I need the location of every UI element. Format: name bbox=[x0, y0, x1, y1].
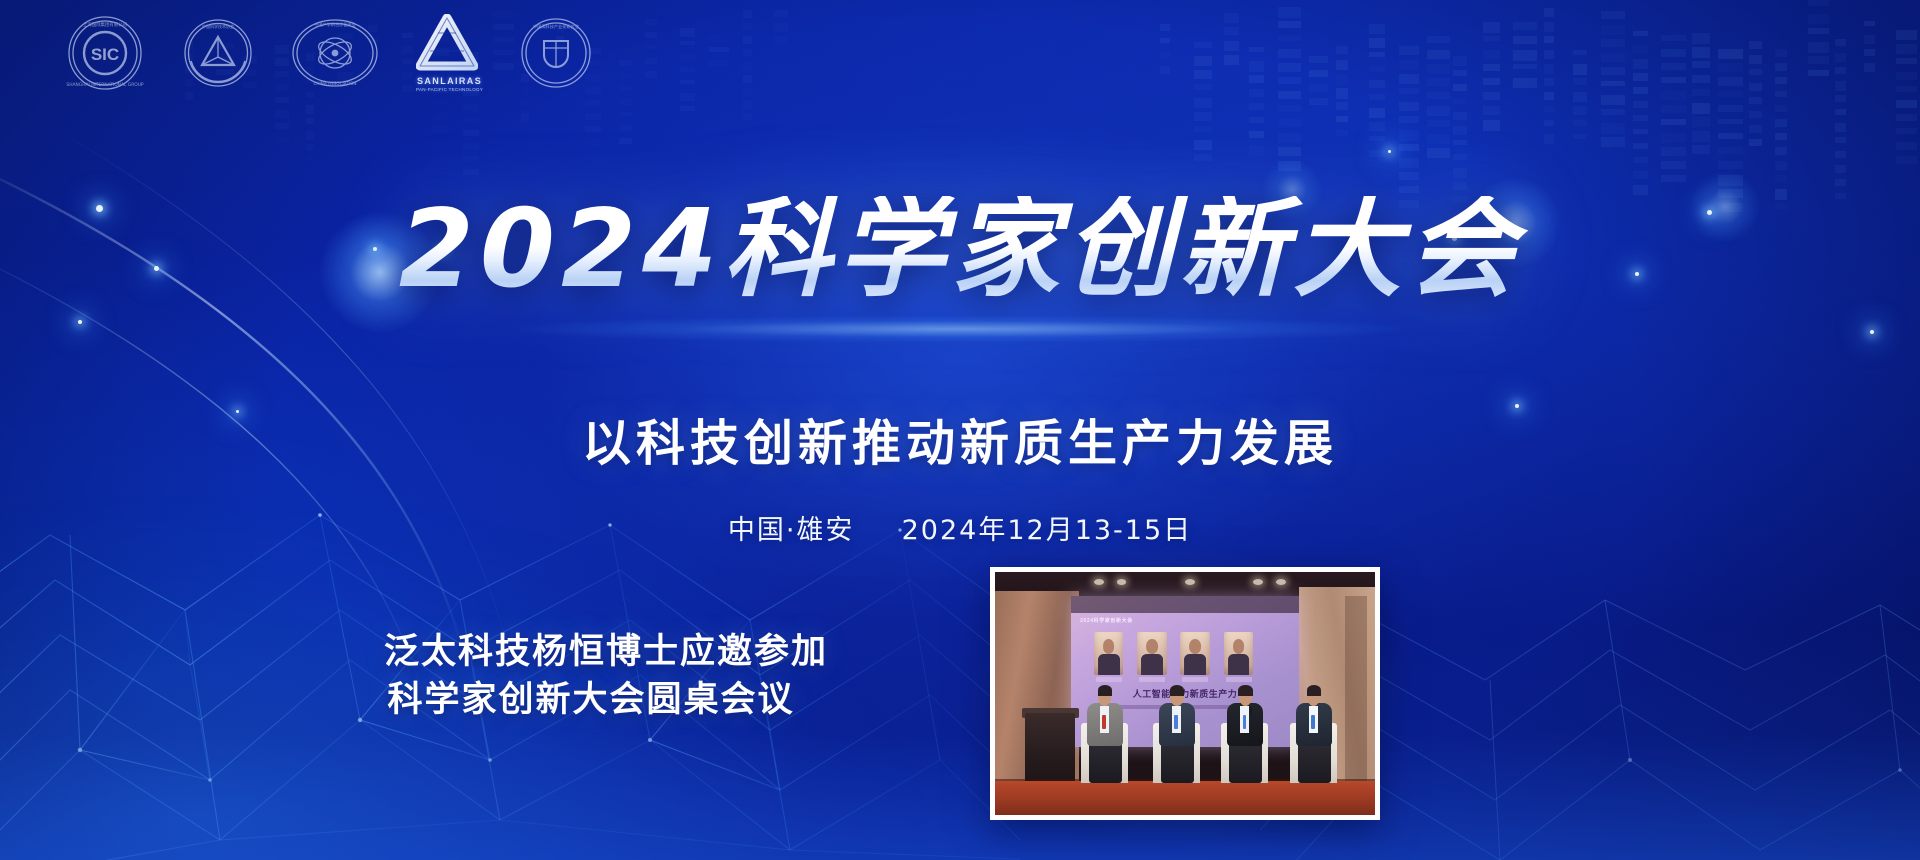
grid-cell-decoration bbox=[1160, 52, 1170, 58]
grid-cell-decoration bbox=[1718, 161, 1743, 169]
grid-cell-decoration bbox=[306, 105, 314, 114]
grid-cell-decoration bbox=[1808, 28, 1829, 34]
grid-cell-decoration bbox=[1544, 50, 1554, 58]
grid-cell-decoration bbox=[1573, 134, 1587, 140]
grid-cell-decoration bbox=[1835, 123, 1846, 132]
santaires-wordmark: SANLAIRAS PAN-PACIFIC TECHNOLOGY bbox=[416, 76, 483, 92]
grid-cell-decoration bbox=[1336, 46, 1348, 54]
grid-cell-decoration bbox=[1661, 105, 1686, 113]
grid-cell-decoration bbox=[1513, 78, 1537, 88]
grid-cell-decoration bbox=[1369, 80, 1385, 88]
grid-cell-decoration bbox=[1309, 84, 1328, 92]
grid-cell-decoration bbox=[1427, 106, 1450, 115]
grid-cell-decoration bbox=[743, 36, 752, 44]
grid-cell-decoration bbox=[433, 113, 449, 120]
grid-cell-decoration bbox=[709, 60, 729, 66]
grid-cell-decoration bbox=[1718, 147, 1743, 154]
grid-cell-decoration bbox=[1835, 53, 1846, 62]
grid-cell-decoration bbox=[1775, 175, 1787, 181]
panelist bbox=[1151, 686, 1202, 783]
grid-cell-decoration bbox=[1718, 105, 1743, 111]
grid-cell-decoration bbox=[1835, 165, 1846, 173]
grid-cell-decoration bbox=[619, 60, 632, 66]
sic-seal-logo: SIC 上海国际集团有限公司 SHANGHAI INTERNATIONAL GR… bbox=[66, 14, 144, 92]
grid-cell-decoration bbox=[709, 47, 729, 52]
grid-cell-decoration bbox=[1336, 102, 1348, 110]
speaker-portrait bbox=[1180, 632, 1210, 674]
grid-cell-decoration bbox=[1633, 59, 1648, 70]
grid-cell-decoration bbox=[1775, 147, 1787, 154]
portrait-caption bbox=[1226, 677, 1252, 682]
grid-cell-decoration bbox=[680, 80, 695, 84]
grid-cell-decoration bbox=[1399, 102, 1419, 111]
grid-cell-decoration bbox=[1775, 105, 1787, 112]
grid-cell-decoration bbox=[1453, 168, 1467, 178]
grid-cell-decoration bbox=[1808, 0, 1829, 6]
grid-cell-decoration bbox=[185, 92, 193, 101]
grid-cell-decoration bbox=[1573, 120, 1587, 126]
panelist-legs bbox=[1089, 742, 1122, 784]
grid-cell-decoration bbox=[774, 36, 788, 43]
grid-cell-decoration bbox=[680, 93, 695, 102]
grid-cell-decoration bbox=[1864, 35, 1875, 43]
grid-cell-decoration bbox=[1427, 78, 1450, 85]
grid-cell-decoration bbox=[1633, 115, 1648, 121]
grid-cell-decoration bbox=[1544, 78, 1554, 86]
grid-cell-decoration bbox=[1661, 35, 1686, 41]
grid-cell-decoration bbox=[743, 88, 752, 97]
grid-cell-decoration bbox=[1692, 33, 1710, 44]
santaires-triangle-logo: SANLAIRAS PAN-PACIFIC TECHNOLOGY bbox=[416, 14, 483, 92]
grid-cell-decoration bbox=[1544, 22, 1554, 32]
grid-cell-decoration bbox=[1369, 52, 1385, 58]
grid-cell-decoration bbox=[709, 34, 729, 42]
portrait-head bbox=[1103, 639, 1115, 653]
grid-cell-decoration bbox=[1194, 98, 1212, 108]
grid-cell-decoration bbox=[1249, 75, 1264, 83]
grid-cell-decoration bbox=[1775, 161, 1787, 169]
grid-cell-decoration bbox=[1573, 78, 1587, 85]
grid-cell-decoration bbox=[743, 101, 752, 109]
grid-cell-decoration bbox=[1692, 103, 1710, 113]
panelist-badge bbox=[1174, 715, 1178, 729]
portrait-head bbox=[1189, 639, 1201, 653]
grid-cell-decoration bbox=[1278, 77, 1301, 84]
grid-cell-decoration bbox=[1661, 91, 1686, 99]
grid-cell-decoration bbox=[1278, 63, 1301, 72]
photo-wall-right-panel bbox=[1345, 596, 1368, 786]
grid-cell-decoration bbox=[1601, 81, 1625, 86]
grid-cell-decoration bbox=[1749, 41, 1762, 49]
grid-cell-decoration bbox=[1633, 101, 1648, 108]
grid-cell-decoration bbox=[1427, 148, 1450, 157]
glow-particle bbox=[1870, 330, 1874, 334]
grid-cell-decoration bbox=[1369, 24, 1385, 35]
grid-cell-decoration bbox=[1633, 73, 1648, 81]
grid-cell-decoration bbox=[1278, 91, 1301, 99]
grid-cell-decoration bbox=[1194, 84, 1212, 90]
grid-cell-decoration bbox=[1775, 77, 1787, 84]
grid-cell-decoration bbox=[1896, 30, 1917, 40]
caption-line-2: 科学家创新大会圆桌会议 bbox=[384, 676, 798, 724]
grid-cell-decoration bbox=[1336, 88, 1348, 99]
grid-cell-decoration bbox=[1336, 116, 1348, 122]
grid-cell-decoration bbox=[521, 100, 529, 105]
grid-cell-decoration bbox=[1399, 172, 1419, 179]
grid-cell-decoration bbox=[1278, 119, 1301, 127]
grid-cell-decoration bbox=[1601, 123, 1625, 134]
grid-cell-decoration bbox=[1453, 112, 1467, 120]
panelist-legs bbox=[1298, 742, 1331, 784]
grid-cell-decoration bbox=[1835, 137, 1846, 143]
grid-cell-decoration bbox=[1336, 74, 1348, 85]
grid-cell-decoration bbox=[619, 73, 632, 79]
grid-cell-decoration bbox=[1224, 41, 1239, 51]
grid-cell-decoration bbox=[1718, 49, 1743, 59]
grid-cell-decoration bbox=[1160, 38, 1170, 43]
grid-cell-decoration bbox=[680, 106, 695, 111]
grid-cell-decoration bbox=[1249, 47, 1264, 52]
grid-cell-decoration bbox=[1483, 120, 1500, 131]
grid-cell-decoration bbox=[1661, 119, 1686, 124]
grid-cell-decoration bbox=[1453, 70, 1467, 76]
grid-cell-decoration bbox=[1864, 63, 1875, 72]
grid-cell-decoration bbox=[1278, 7, 1301, 18]
grid-cell-decoration bbox=[1160, 66, 1170, 74]
grid-cell-decoration bbox=[1194, 154, 1212, 161]
speaker-portrait bbox=[1094, 632, 1124, 674]
grid-cell-decoration bbox=[1835, 109, 1846, 116]
grid-cell-decoration bbox=[619, 86, 632, 91]
grid-cell-decoration bbox=[1278, 49, 1301, 57]
svg-text:CHINA ASSOCIATION: CHINA ASSOCIATION bbox=[313, 81, 356, 86]
grid-cell-decoration bbox=[1749, 69, 1762, 75]
grid-cell-decoration bbox=[1544, 106, 1554, 111]
grid-cell-decoration bbox=[1483, 92, 1500, 100]
panelist-badge bbox=[1311, 715, 1315, 729]
grid-cell-decoration bbox=[1661, 63, 1686, 69]
panelist bbox=[1079, 686, 1130, 783]
svg-text:SIC: SIC bbox=[91, 45, 119, 64]
svg-text:中国科学技术协会: 中国科学技术协会 bbox=[202, 23, 234, 29]
grid-cell-decoration bbox=[1633, 157, 1648, 163]
poster-subtitle: 以科技创新推动新质生产力发展 bbox=[0, 404, 1920, 475]
glow-particle bbox=[1388, 150, 1391, 153]
grid-cell-decoration bbox=[1601, 109, 1625, 116]
panelist bbox=[1219, 686, 1270, 783]
grid-cell-decoration bbox=[585, 100, 601, 106]
grid-cell-decoration bbox=[1601, 25, 1625, 35]
event-caption: 泛太科技杨恒博士应邀参加 科学家创新大会圆桌会议 bbox=[384, 628, 798, 725]
grid-cell-decoration bbox=[743, 23, 752, 28]
grid-cell-decoration bbox=[1775, 63, 1787, 70]
grid-cell-decoration bbox=[1808, 14, 1829, 23]
grid-cell-decoration bbox=[680, 41, 695, 46]
poster-canvas: SIC 上海国际集团有限公司 SHANGHAI INTERNATIONAL GR… bbox=[0, 0, 1920, 860]
svg-text:SHANGHAI INTERNATIONAL GROUP: SHANGHAI INTERNATIONAL GROUP bbox=[66, 82, 143, 88]
grid-cell-decoration bbox=[1369, 66, 1385, 73]
grid-cell-decoration bbox=[1633, 31, 1648, 36]
grid-cell-decoration bbox=[1399, 130, 1419, 141]
grid-cell-decoration bbox=[1896, 142, 1917, 149]
grid-cell-decoration bbox=[1224, 13, 1239, 23]
grid-cell-decoration bbox=[463, 104, 479, 111]
grid-cell-decoration bbox=[1427, 50, 1450, 59]
grid-cell-decoration bbox=[1692, 75, 1710, 83]
meeting-location: 中国·雄安 bbox=[728, 515, 855, 546]
atom-seal-logo: 中国产学研合作促进会 CHINA ASSOCIATION bbox=[292, 16, 378, 90]
grid-cell-decoration bbox=[1633, 129, 1648, 134]
portrait-body bbox=[1141, 654, 1163, 675]
grid-cell-decoration bbox=[1513, 36, 1537, 45]
grid-cell-decoration bbox=[1483, 106, 1500, 114]
grid-cell-decoration bbox=[1336, 60, 1348, 69]
svg-text:中国高科技产业化研究会: 中国高科技产业化研究会 bbox=[533, 23, 580, 30]
grid-cell-decoration bbox=[1573, 92, 1587, 102]
grid-cell-decoration bbox=[1399, 88, 1419, 94]
panelist-badge bbox=[1102, 715, 1106, 729]
ceiling-light-icon bbox=[1094, 579, 1104, 585]
grid-cell-decoration bbox=[1309, 70, 1328, 77]
grid-cell-decoration bbox=[1601, 137, 1625, 147]
stage-floor bbox=[995, 781, 1375, 815]
svg-text:上海国际集团有限公司: 上海国际集团有限公司 bbox=[83, 21, 127, 28]
grid-cell-decoration bbox=[1661, 161, 1686, 169]
grid-cell-decoration bbox=[1453, 98, 1467, 104]
microphone-icon bbox=[1250, 707, 1252, 716]
grid-cell-decoration bbox=[774, 23, 788, 32]
grid-cell-decoration bbox=[645, 32, 657, 37]
panelist-badge bbox=[1243, 715, 1247, 729]
grid-cell-decoration bbox=[1194, 42, 1212, 49]
grid-cell-decoration bbox=[1369, 136, 1385, 142]
grid-cell-decoration bbox=[1249, 145, 1264, 156]
grid-cell-decoration bbox=[1427, 92, 1450, 98]
grid-cell-decoration bbox=[1224, 55, 1239, 65]
screen-header-bar bbox=[1071, 596, 1299, 613]
panelist bbox=[1288, 686, 1339, 783]
grid-cell-decoration bbox=[1427, 134, 1450, 144]
grid-cell-decoration bbox=[1718, 91, 1743, 97]
grid-cell-decoration bbox=[1544, 134, 1554, 144]
ceiling-light-icon bbox=[1185, 579, 1195, 585]
grid-cell-decoration bbox=[1427, 36, 1450, 43]
panelist-hair bbox=[1307, 685, 1321, 696]
grid-cell-decoration bbox=[1544, 64, 1554, 74]
title-underglow bbox=[520, 316, 1400, 342]
grid-cell-decoration bbox=[1718, 133, 1743, 139]
grid-cell-decoration bbox=[1601, 11, 1625, 19]
grid-cell-decoration bbox=[1896, 114, 1917, 121]
grid-cell-decoration bbox=[1808, 56, 1829, 64]
grid-cell-decoration bbox=[1633, 143, 1648, 149]
grid-cell-decoration bbox=[1513, 22, 1537, 30]
grid-cell-decoration bbox=[1661, 133, 1686, 143]
portrait-caption bbox=[1096, 677, 1122, 682]
grid-cell-decoration bbox=[1808, 42, 1829, 52]
grid-cell-decoration bbox=[1835, 151, 1846, 159]
grid-cell-decoration bbox=[1194, 70, 1212, 79]
grid-cell-decoration bbox=[1369, 150, 1385, 158]
grid-cell-decoration bbox=[1399, 60, 1419, 69]
portrait-body bbox=[1184, 654, 1206, 675]
grid-cell-decoration bbox=[680, 28, 695, 37]
triangle-seal-logo: 中国科学技术协会 bbox=[182, 17, 254, 89]
panelist-hair bbox=[1238, 685, 1252, 696]
grid-cell-decoration bbox=[743, 75, 752, 83]
grid-cell-decoration bbox=[1544, 120, 1554, 126]
grid-cell-decoration bbox=[1749, 139, 1762, 146]
grid-cell-decoration bbox=[1224, 27, 1239, 34]
grid-cell-decoration bbox=[1718, 63, 1743, 71]
grid-cell-decoration bbox=[1453, 56, 1467, 66]
speaker-portrait bbox=[1224, 632, 1254, 674]
grid-cell-decoration bbox=[1601, 95, 1625, 105]
grid-cell-decoration bbox=[1483, 36, 1500, 41]
portrait-body bbox=[1098, 654, 1120, 675]
grid-cell-decoration bbox=[743, 49, 752, 55]
grid-cell-decoration bbox=[1573, 106, 1587, 115]
grid-cell-decoration bbox=[1692, 47, 1710, 58]
grid-cell-decoration bbox=[1453, 84, 1467, 91]
shield-seal-logo: 中国高科技产业化研究会 bbox=[519, 16, 593, 90]
grid-cell-decoration bbox=[1864, 21, 1875, 26]
grid-cell-decoration bbox=[1633, 185, 1648, 195]
grid-cell-decoration bbox=[1749, 97, 1762, 104]
grid-cell-decoration bbox=[1194, 140, 1212, 151]
grid-cell-decoration bbox=[680, 67, 695, 72]
grid-cell-decoration bbox=[1749, 125, 1762, 134]
grid-cell-decoration bbox=[1483, 22, 1500, 33]
screen-header-title: 2024科学家创新大会 bbox=[1080, 617, 1133, 624]
photo-content: 2024科学家创新大会 bbox=[995, 572, 1375, 815]
grid-cell-decoration bbox=[1835, 179, 1846, 186]
grid-cell-decoration bbox=[645, 71, 657, 78]
grid-cell-decoration bbox=[774, 10, 788, 16]
grid-cell-decoration bbox=[1692, 117, 1710, 127]
grid-cell-decoration bbox=[1453, 154, 1467, 160]
grid-cell-decoration bbox=[1278, 105, 1301, 112]
grid-cell-decoration bbox=[1249, 117, 1264, 123]
grid-cell-decoration bbox=[1661, 175, 1686, 182]
grid-cell-decoration bbox=[1896, 72, 1917, 80]
grid-cell-decoration bbox=[1896, 58, 1917, 64]
grid-cell-decoration bbox=[1483, 50, 1500, 59]
portrait-head bbox=[1146, 639, 1158, 653]
grid-cell-decoration bbox=[1749, 55, 1762, 64]
grid-cell-decoration bbox=[1692, 89, 1710, 96]
grid-cell-decoration bbox=[1309, 56, 1328, 63]
grid-cell-decoration bbox=[645, 58, 657, 63]
grid-cell-decoration bbox=[1835, 81, 1846, 91]
portrait-caption bbox=[1139, 677, 1165, 682]
grid-cell-decoration bbox=[1369, 38, 1385, 48]
grid-cell-decoration bbox=[1399, 144, 1419, 151]
grid-cell-decoration bbox=[1399, 158, 1419, 168]
grid-cell-decoration bbox=[1544, 8, 1554, 17]
grid-cell-decoration bbox=[1749, 111, 1762, 118]
grid-cell-decoration bbox=[680, 54, 695, 62]
panelist-legs bbox=[1161, 742, 1194, 784]
grid-cell-decoration bbox=[1692, 61, 1710, 67]
grid-cell-decoration bbox=[1249, 103, 1264, 110]
grid-cell-decoration bbox=[1692, 131, 1710, 141]
grid-cell-decoration bbox=[619, 99, 632, 106]
grid-cell-decoration bbox=[1453, 140, 1467, 146]
horizon-glow bbox=[0, 630, 1920, 860]
grid-cell-decoration bbox=[1249, 89, 1264, 97]
grid-cell-decoration bbox=[1278, 35, 1301, 40]
grid-cell-decoration bbox=[1194, 56, 1212, 66]
grid-cell-decoration bbox=[1483, 64, 1500, 71]
portrait-body bbox=[1228, 654, 1250, 675]
grid-cell-decoration bbox=[1633, 45, 1648, 53]
grid-cell-decoration bbox=[1427, 120, 1450, 126]
grid-cell-decoration bbox=[1427, 64, 1450, 74]
grid-cell-decoration bbox=[275, 97, 289, 103]
grid-cell-decoration bbox=[1399, 116, 1419, 123]
grid-cell-decoration bbox=[1896, 156, 1917, 164]
grid-cell-decoration bbox=[1835, 67, 1846, 74]
panelist-hair bbox=[1098, 685, 1112, 696]
grid-cell-decoration bbox=[1278, 133, 1301, 143]
grid-cell-decoration bbox=[1896, 86, 1917, 92]
grid-cell-decoration bbox=[1633, 87, 1648, 94]
grid-cell-decoration bbox=[1194, 126, 1212, 133]
meeting-info-line: 中国·雄安 2024年12月13-15日 bbox=[0, 508, 1920, 547]
grid-cell-decoration bbox=[1775, 49, 1787, 57]
grid-cell-decoration bbox=[1369, 122, 1385, 132]
speaker-portrait bbox=[1137, 632, 1167, 674]
grid-cell-decoration bbox=[1249, 61, 1264, 71]
grid-cell-decoration bbox=[1775, 91, 1787, 96]
grid-cell-decoration bbox=[1896, 44, 1917, 53]
grid-cell-decoration bbox=[1896, 128, 1917, 133]
grid-cell-decoration bbox=[1483, 78, 1500, 85]
grid-cell-decoration bbox=[1775, 133, 1787, 139]
grid-cell-decoration bbox=[1692, 145, 1710, 153]
grid-cell-decoration bbox=[1544, 92, 1554, 100]
grid-cell-decoration bbox=[1573, 50, 1587, 55]
roundtable-panel-photo: 2024科学家创新大会 bbox=[990, 567, 1380, 820]
grid-cell-decoration bbox=[1718, 119, 1743, 124]
grid-cell-decoration bbox=[433, 100, 449, 106]
grid-cell-decoration bbox=[1661, 77, 1686, 82]
grid-cell-decoration bbox=[1633, 171, 1648, 179]
grid-cell-decoration bbox=[1278, 147, 1301, 155]
portrait-head bbox=[1233, 639, 1245, 653]
grid-cell-decoration bbox=[1513, 64, 1537, 70]
grid-cell-decoration bbox=[1749, 83, 1762, 91]
grid-cell-decoration bbox=[1513, 50, 1537, 61]
grid-cell-decoration bbox=[619, 112, 632, 116]
grid-cell-decoration bbox=[1399, 46, 1419, 54]
grid-cell-decoration bbox=[1835, 95, 1846, 102]
grid-cell-decoration bbox=[1718, 77, 1743, 86]
grid-cell-decoration bbox=[1864, 49, 1875, 55]
grid-cell-decoration bbox=[1573, 64, 1587, 75]
grid-cell-decoration bbox=[1835, 39, 1846, 46]
grid-cell-decoration bbox=[1399, 74, 1419, 84]
grid-cell-decoration bbox=[1601, 53, 1625, 63]
glow-particle bbox=[78, 320, 82, 324]
grid-cell-decoration bbox=[1775, 119, 1787, 127]
grid-cell-decoration bbox=[1194, 112, 1212, 121]
grid-cell-decoration bbox=[1601, 39, 1625, 48]
grid-cell-decoration bbox=[1544, 36, 1554, 43]
grid-cell-decoration bbox=[1661, 49, 1686, 56]
grid-cell-decoration bbox=[1278, 21, 1301, 27]
